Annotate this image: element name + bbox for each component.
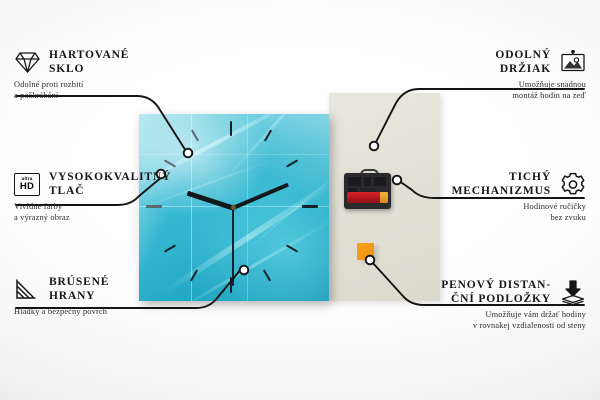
gear-icon <box>560 171 586 197</box>
feature-description: Vivídne farby a výrazný obraz <box>14 198 204 223</box>
ultra-hd-badge-icon: ultra HD <box>14 171 40 197</box>
clock-tick <box>286 159 298 167</box>
clock-center-hub <box>231 205 236 210</box>
feature-vysokokvalitny-tlac: ultra HD VYSOKOKVALITNÝ TLAČ Vivídne far… <box>14 170 204 223</box>
glass-reflection-line <box>139 154 329 155</box>
feature-title: HARTOVANÉ SKLO <box>49 48 129 76</box>
mechanism-detail <box>348 177 361 186</box>
feature-description: Umožňuje snadnou montáž hodin na zeď <box>396 76 586 101</box>
diamond-icon <box>14 49 40 75</box>
feature-penove-distancni-podlozky: PENOVÝ DISTAN- ČNÍ PODLOŽKY Umožňuje vám… <box>396 278 586 331</box>
mechanism-body <box>344 173 391 209</box>
clock-second-hand <box>232 206 234 286</box>
diagonal-lines-icon <box>14 276 40 302</box>
feature-title: ODOLNÝ DRŽIAK <box>495 48 551 76</box>
feature-heading: PENOVÝ DISTAN- ČNÍ PODLOŽKY <box>396 278 586 306</box>
picture-frame-icon <box>560 49 586 75</box>
clock-tick <box>302 205 318 208</box>
clock-tick <box>263 269 271 281</box>
clock-tick <box>164 244 176 252</box>
battery-terminal <box>380 192 388 203</box>
feature-title: PENOVÝ DISTAN- ČNÍ PODLOŽKY <box>441 278 551 306</box>
feature-hartovane-sklo: HARTOVANÉ SKLO Odolné proti rozbití a po… <box>14 48 204 101</box>
feature-heading: BRÚSENÉ HRANY <box>14 275 204 303</box>
feature-tichy-mechanizmus: TICHÝ MECHANIZMUS Hodinové ručičky bez z… <box>396 170 586 223</box>
clock-tick <box>230 121 232 136</box>
mechanism-detail <box>364 177 371 186</box>
feature-description: Umožňuje vám držať hodiny v rovnakej vzd… <box>396 306 586 331</box>
foam-distance-pad <box>357 243 374 260</box>
feature-heading: ODOLNÝ DRŽIAK <box>396 48 586 76</box>
feature-description: Odolné proti rozbití a poškrábání <box>14 76 204 101</box>
feature-heading: HARTOVANÉ SKLO <box>14 48 204 76</box>
mechanism-detail <box>374 177 386 186</box>
feature-brusene-hrany: BRÚSENÉ HRANY Hladký a bezpečný povrch <box>14 275 204 317</box>
feature-heading: ultra HD VYSOKOKVALITNÝ TLAČ <box>14 170 204 198</box>
feature-title: BRÚSENÉ HRANY <box>49 275 109 303</box>
badge-bottom-text: HD <box>20 182 34 192</box>
feature-heading: TICHÝ MECHANIZMUS <box>396 170 586 198</box>
arrow-down-layers-icon <box>560 279 586 305</box>
feature-description: Hodinové ručičky bez zvuku <box>396 198 586 223</box>
feature-title: VYSOKOKVALITNÝ TLAČ <box>49 170 171 198</box>
glass-reflection-line <box>247 114 248 301</box>
feature-odolny-drziak: ODOLNÝ DRŽIAK Umožňuje snadnou montáž ho… <box>396 48 586 101</box>
clock-tick <box>286 244 298 252</box>
feature-title: TICHÝ MECHANIZMUS <box>452 170 551 198</box>
quartz-clock-mechanism <box>344 169 391 209</box>
clock-tick <box>191 129 199 141</box>
feature-description: Hladký a bezpečný povrch <box>14 303 204 317</box>
infographic-canvas: HARTOVANÉ SKLO Odolné proti rozbití a po… <box>0 0 600 400</box>
